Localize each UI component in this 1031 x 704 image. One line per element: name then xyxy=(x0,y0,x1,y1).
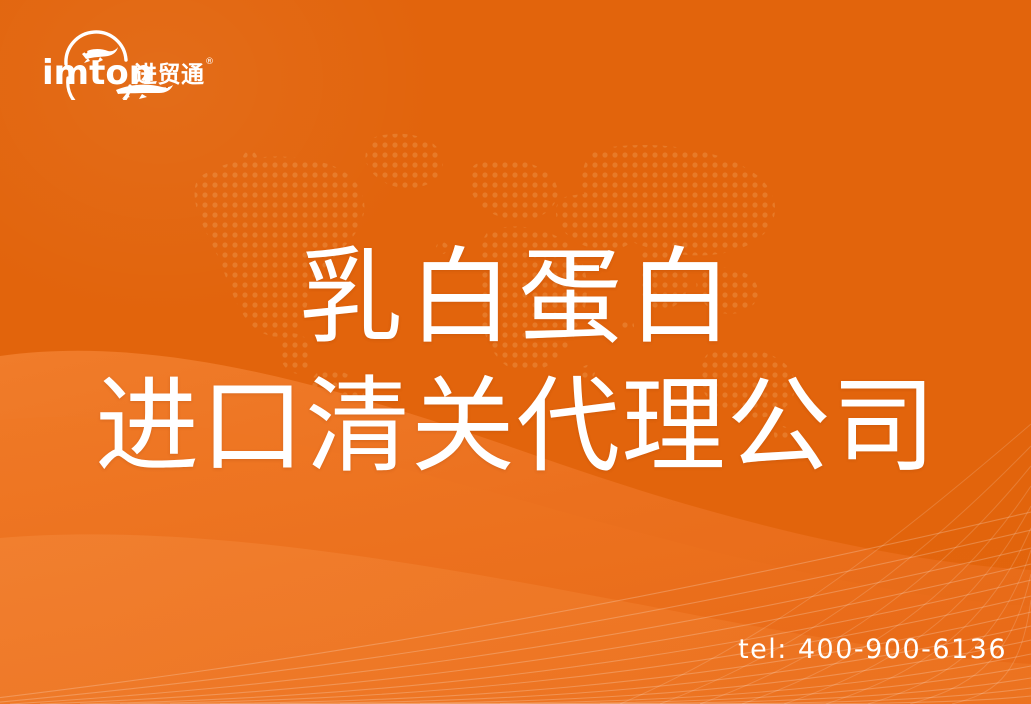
registered-trademark-icon: ® xyxy=(205,57,214,67)
contact-telephone: tel: 400-900-6136 xyxy=(738,634,1007,665)
company-logo[interactable]: imton 进贸通 ® xyxy=(38,30,218,100)
headline-line-1: 乳白蛋白 xyxy=(0,236,1031,359)
headline-line-2: 进口清关代理公司 xyxy=(0,365,1031,488)
headline: 乳白蛋白 进口清关代理公司 xyxy=(0,236,1031,487)
promo-banner: imton 进贸通 ® 乳白蛋白 进口清关代理公司 tel: 400-900-6… xyxy=(0,0,1031,704)
logo-chinese-name: 进贸通 xyxy=(134,62,205,88)
